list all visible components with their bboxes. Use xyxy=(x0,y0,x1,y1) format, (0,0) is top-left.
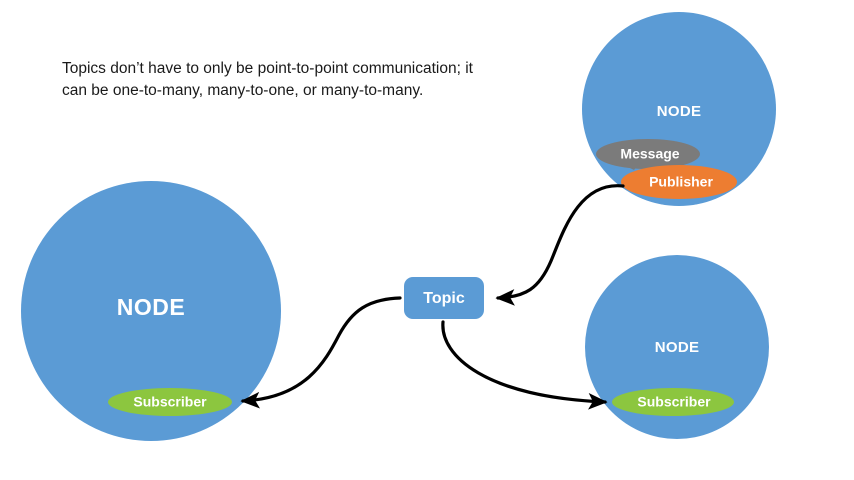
arrow-topic-to-subscriber-right[interactable] xyxy=(443,322,605,402)
subscriber-left-label: Subscriber xyxy=(133,394,207,410)
subscriber-left[interactable]: Subscriber xyxy=(108,388,232,416)
subscriber-right[interactable]: Subscriber xyxy=(612,388,734,416)
message-label: Message xyxy=(620,146,679,162)
slide-canvas: Topics don’t have to only be point-to-po… xyxy=(0,0,854,480)
arrow-publisher-to-topic[interactable] xyxy=(498,186,623,298)
node-bottom-right-label: NODE xyxy=(655,339,700,356)
subscriber-right-label: Subscriber xyxy=(637,394,711,410)
node-left-label: NODE xyxy=(117,294,185,320)
topic-box[interactable]: Topic xyxy=(404,277,484,319)
publisher[interactable]: Publisher xyxy=(621,165,737,199)
topic-diagram: NODE Subscriber NODE Message Publisher xyxy=(0,0,854,480)
topic-label: Topic xyxy=(423,290,465,307)
node-bottom-right[interactable]: NODE Subscriber xyxy=(585,255,769,439)
node-top-right-label: NODE xyxy=(657,103,702,120)
node-top-right[interactable]: NODE Message Publisher xyxy=(582,12,776,206)
publisher-label: Publisher xyxy=(649,174,713,190)
